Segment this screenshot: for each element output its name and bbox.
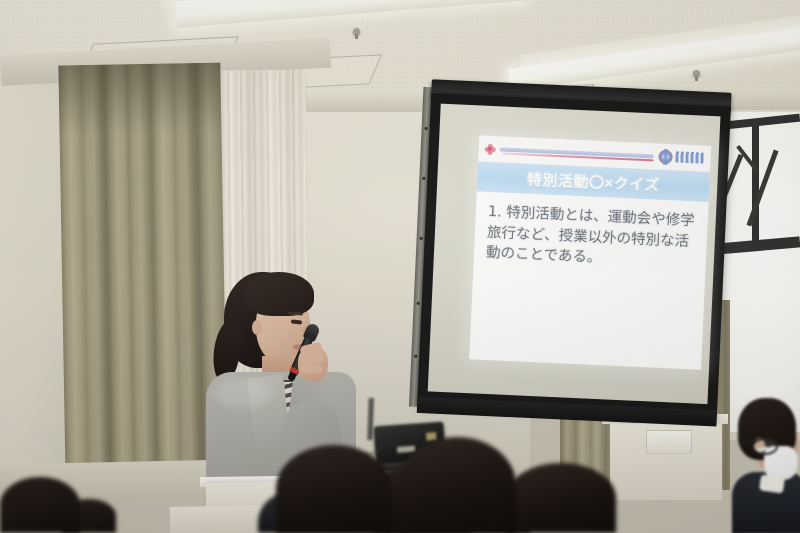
sprinkler-head-right [692, 70, 701, 81]
sprinkler-head-center [352, 28, 361, 39]
screen-surface: 特別活動〇×クイズ 1. 特別活動とは、運動会や修学 旅行など、授業以外の特別な… [428, 104, 721, 404]
presenter-shoulder-highlight [214, 378, 272, 408]
microphone-tail [287, 372, 297, 382]
header-rule [500, 147, 654, 158]
curtain-top-shadow [58, 63, 221, 136]
presenter-hair-front [244, 272, 314, 316]
audience-member-with-mask [736, 398, 800, 533]
flower-icon [485, 143, 496, 154]
photo-scene: 特別活動〇×クイズ 1. 特別活動とは、運動会や修学 旅行など、授業以外の特別な… [0, 0, 800, 533]
masked-person-collar [759, 474, 785, 493]
projection-screen-assembly: 特別活動〇×クイズ 1. 特別活動とは、運動会や修学 旅行など、授業以外の特別な… [410, 79, 743, 433]
audience-head-4 [506, 463, 616, 533]
window-mullion [752, 122, 759, 246]
audience-head-1 [276, 445, 392, 533]
organization-logo-icon [658, 149, 705, 167]
slide-body: 1. 特別活動とは、運動会や修学 旅行など、授業以外の特別な活 動のことである。 [474, 191, 709, 273]
audience-head-3 [398, 437, 516, 533]
eyeglasses-icon [752, 438, 778, 455]
presenter-finger-3 [300, 364, 322, 374]
presenter-ear [252, 320, 262, 335]
slide-title: 特別活動〇×クイズ [527, 168, 661, 195]
projected-slide: 特別活動〇×クイズ 1. 特別活動とは、運動会や修学 旅行など、授業以外の特別な… [469, 135, 711, 369]
cabinet-equipment-box [646, 430, 692, 454]
audience-head-5 [0, 477, 80, 533]
